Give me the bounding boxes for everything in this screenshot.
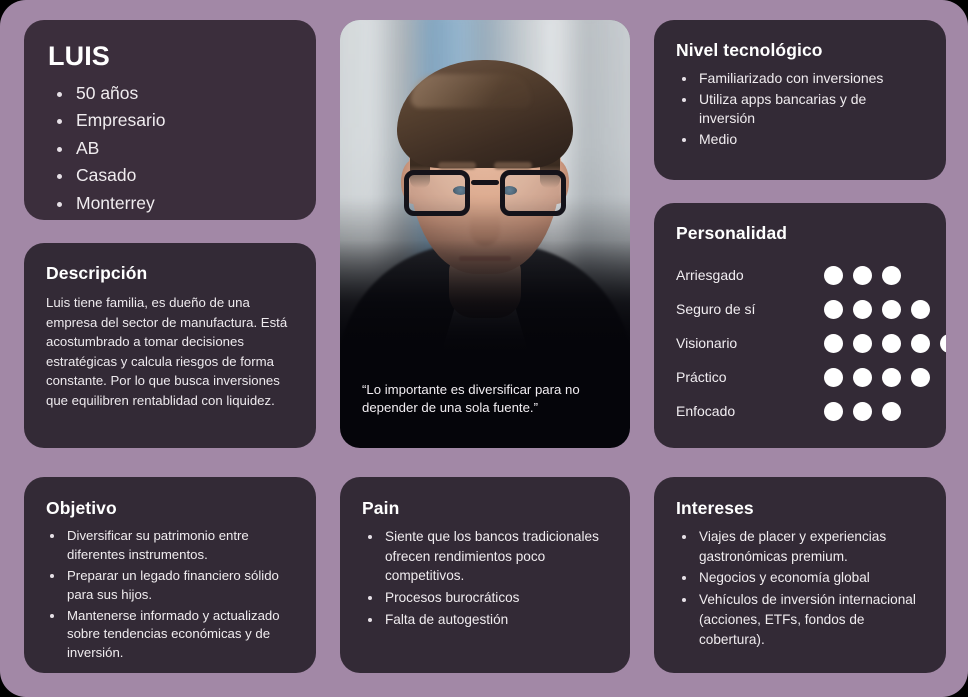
personality-trait-row: Enfocado bbox=[676, 394, 924, 428]
personality-trait-row: Visionario bbox=[676, 326, 924, 360]
personality-trait-rating bbox=[824, 334, 946, 353]
photo-fade-overlay bbox=[340, 240, 630, 360]
identity-attribute-item: Casado bbox=[74, 162, 292, 189]
tech-level-list: Familiarizado con inversionesUtiliza app… bbox=[676, 69, 924, 149]
identity-attribute-item: 50 años bbox=[74, 80, 292, 107]
tech-level-item: Utiliza apps bancarias y de inversión bbox=[697, 90, 924, 129]
personality-trait-rating bbox=[824, 300, 930, 319]
rating-dot-filled bbox=[853, 402, 872, 421]
personality-trait-label: Enfocado bbox=[676, 403, 824, 419]
pain-title: Pain bbox=[362, 498, 608, 519]
identity-card: LUIS 50 añosEmpresarioABCasadoMonterrey bbox=[24, 20, 316, 220]
rating-dot-filled bbox=[882, 368, 901, 387]
rating-dot-filled bbox=[824, 368, 843, 387]
rating-dot-filled bbox=[882, 300, 901, 319]
identity-attribute-list: 50 añosEmpresarioABCasadoMonterrey bbox=[48, 80, 292, 217]
interests-list: Viajes de placer y experiencias gastronó… bbox=[676, 527, 926, 649]
personality-trait-label: Práctico bbox=[676, 369, 824, 385]
personality-trait-row: Práctico bbox=[676, 360, 924, 394]
objective-title: Objetivo bbox=[46, 498, 296, 519]
personality-trait-label: Arriesgado bbox=[676, 267, 824, 283]
interests-item: Vehículos de inversión internacional (ac… bbox=[697, 590, 926, 649]
rating-dot-filled bbox=[911, 334, 930, 353]
rating-dot-filled bbox=[853, 334, 872, 353]
identity-attribute-item: AB bbox=[74, 135, 292, 162]
interests-item: Negocios y economía global bbox=[697, 568, 926, 588]
tech-level-title: Nivel tecnológico bbox=[676, 40, 924, 61]
rating-dot-filled bbox=[853, 300, 872, 319]
personality-trait-row: Seguro de sí bbox=[676, 292, 924, 326]
personality-trait-rating bbox=[824, 402, 901, 421]
personality-card: Personalidad ArriesgadoSeguro de síVisio… bbox=[654, 203, 946, 448]
portrait-photo bbox=[340, 20, 630, 360]
personality-trait-label: Seguro de sí bbox=[676, 301, 824, 317]
rating-dot-filled bbox=[853, 368, 872, 387]
pain-item: Procesos burocráticos bbox=[383, 588, 608, 608]
rating-dot-filled bbox=[882, 402, 901, 421]
personality-trait-rating bbox=[824, 266, 901, 285]
interests-item: Viajes de placer y experiencias gastronó… bbox=[697, 527, 926, 566]
pain-item: Siente que los bancos tradicionales ofre… bbox=[383, 527, 608, 586]
rating-dot-filled bbox=[882, 334, 901, 353]
rating-dot-filled bbox=[911, 300, 930, 319]
objective-item: Diversificar su patrimonio entre diferen… bbox=[65, 527, 296, 565]
interests-title: Intereses bbox=[676, 498, 926, 519]
persona-name: LUIS bbox=[48, 42, 292, 72]
persona-board: LUIS 50 añosEmpresarioABCasadoMonterrey … bbox=[0, 0, 968, 697]
objective-item: Preparar un legado financiero sólido par… bbox=[65, 567, 296, 605]
photo-card: “Lo importante es diversificar para no d… bbox=[340, 20, 630, 448]
rating-dot-filled bbox=[940, 334, 946, 353]
pain-card: Pain Siente que los bancos tradicionales… bbox=[340, 477, 630, 673]
description-card: Descripción Luis tiene familia, es dueño… bbox=[24, 243, 316, 448]
rating-dot-filled bbox=[824, 334, 843, 353]
tech-level-item: Familiarizado con inversiones bbox=[697, 69, 924, 89]
persona-quote: “Lo importante es diversificar para no d… bbox=[340, 381, 630, 448]
personality-trait-label: Visionario bbox=[676, 335, 824, 351]
interests-card: Intereses Viajes de placer y experiencia… bbox=[654, 477, 946, 673]
tech-level-item: Medio bbox=[697, 130, 924, 150]
rating-dot-filled bbox=[824, 402, 843, 421]
identity-attribute-item: Monterrey bbox=[74, 190, 292, 217]
tech-level-card: Nivel tecnológico Familiarizado con inve… bbox=[654, 20, 946, 180]
description-title: Descripción bbox=[46, 263, 294, 284]
rating-dot-filled bbox=[911, 368, 930, 387]
pain-item: Falta de autogestión bbox=[383, 610, 608, 630]
rating-dot-filled bbox=[824, 266, 843, 285]
objective-list: Diversificar su patrimonio entre diferen… bbox=[46, 527, 296, 663]
personality-rating-list: ArriesgadoSeguro de síVisionarioPráctico… bbox=[676, 258, 924, 428]
rating-dot-filled bbox=[853, 266, 872, 285]
personality-title: Personalidad bbox=[676, 223, 924, 244]
objective-item: Mantenerse informado y actualizado sobre… bbox=[65, 607, 296, 664]
personality-trait-row: Arriesgado bbox=[676, 258, 924, 292]
identity-attribute-item: Empresario bbox=[74, 107, 292, 134]
personality-trait-rating bbox=[824, 368, 930, 387]
objective-card: Objetivo Diversificar su patrimonio entr… bbox=[24, 477, 316, 673]
rating-dot-filled bbox=[824, 300, 843, 319]
pain-list: Siente que los bancos tradicionales ofre… bbox=[362, 527, 608, 630]
description-text: Luis tiene familia, es dueño de una empr… bbox=[46, 293, 294, 410]
rating-dot-filled bbox=[882, 266, 901, 285]
